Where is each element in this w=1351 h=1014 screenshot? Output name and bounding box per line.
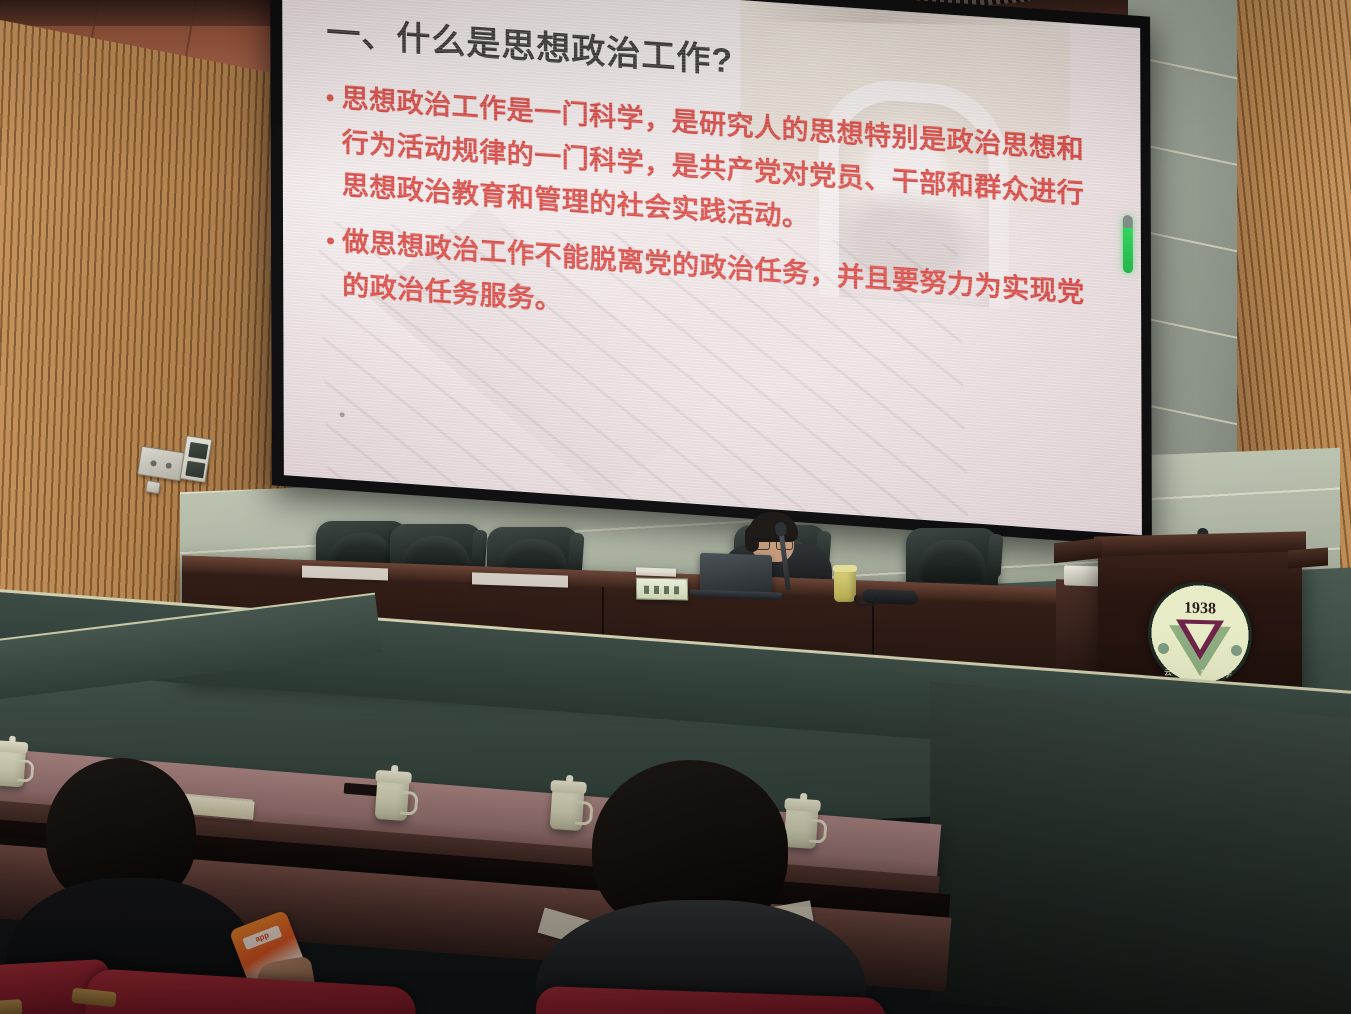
- audience-person-right: [556, 760, 816, 1014]
- slide-body: 思想政治工作是一门科学，是研究人的思想特别是政治思想和行为活动规律的一门科学，是…: [326, 76, 1107, 361]
- slide-stray-dot: [340, 412, 345, 417]
- auditorium-photo-scene: 一、什么是思想政治工作? 思想政治工作是一门科学，是研究人的思想特别是政治思想和…: [0, 0, 1351, 1014]
- emblem-triangle-inner: [1185, 624, 1215, 651]
- bullet-dot-icon: [327, 237, 334, 244]
- bullet-dot-icon: [327, 94, 334, 101]
- teacup-lid-knob: [391, 765, 399, 773]
- emblem-year: 1938: [1148, 599, 1252, 620]
- emblem-dot-right: [1231, 645, 1242, 656]
- speaker-glasses-icon: [753, 538, 793, 546]
- table-papers: [636, 567, 676, 576]
- slide-content: 一、什么是思想政治工作? 思想政治工作是一门科学，是研究人的思想特别是政治思想和…: [282, 0, 1142, 535]
- small-wall-plate[interactable]: [145, 480, 161, 494]
- podium-right-wing: [1288, 547, 1328, 568]
- teacup-lid-knob: [9, 736, 16, 744]
- seat-armrest: [0, 999, 23, 1014]
- screen-surface: 一、什么是思想政治工作? 思想政治工作是一门科学，是研究人的思想特别是政治思想和…: [282, 0, 1142, 535]
- emblem-dot-left: [1158, 643, 1169, 654]
- screen-status-indicator-icon: [1123, 215, 1133, 274]
- podium-top-surface: [1094, 531, 1306, 556]
- teacup: [0, 749, 26, 788]
- university-emblem-icon: YUNNAN NORMAL UNIVERSITY 1938 云南师范大学: [1148, 581, 1252, 688]
- speaker-laptop[interactable]: [700, 553, 772, 594]
- projection-screen[interactable]: 一、什么是思想政治工作? 思想政治工作是一门科学，是研究人的思想特别是政治思想和…: [270, 0, 1152, 547]
- desk-equipment: [862, 589, 918, 605]
- teacup: [375, 779, 410, 821]
- speaker-cup: [834, 570, 856, 602]
- phone-screen-label: app: [242, 925, 282, 950]
- right-floor-area: [930, 681, 1351, 1014]
- stage-chair[interactable]: [906, 528, 998, 590]
- speaker-nameplate: [636, 578, 688, 601]
